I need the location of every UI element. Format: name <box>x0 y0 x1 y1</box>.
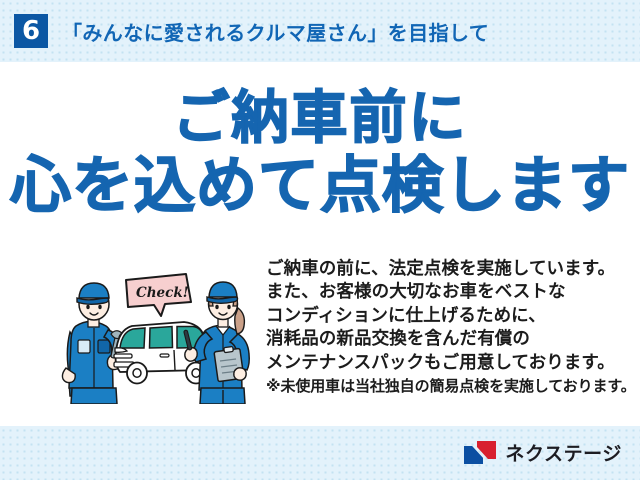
body-line-1: ご納車の前に、法定点検を実施しています。 <box>266 258 626 281</box>
header-band: 6 「みんなに愛されるクルマ屋さん」を目指して <box>0 0 640 62</box>
body-line-5: メンテナンスパックもご用意しております。 <box>266 352 626 375</box>
content-panel: ご納車前に 心を込めて点検します <box>0 62 640 426</box>
brand-logo: ネクステージ <box>463 439 622 466</box>
body-line-2: また、お客様の大切なお車をベストな <box>266 281 626 304</box>
step-number-badge: 6 <box>14 14 48 48</box>
check-bubble-text: Check! <box>136 285 189 301</box>
mechanics-illustration: Check! <box>58 264 258 404</box>
nextage-n-mark-icon <box>463 440 497 465</box>
headline-line-1: ご納車前に <box>0 84 640 152</box>
headline-line-2: 心を込めて点検します <box>0 152 640 220</box>
body-note: ※未使用車は当社独自の簡易点検を実施しております。 <box>266 375 626 397</box>
footer-band: ネクステージ <box>0 426 640 480</box>
mechanic-male-figure <box>62 283 122 404</box>
check-speech-bubble: Check! <box>126 274 191 316</box>
body-line-4: 消耗品の新品交換を含んだ有償の <box>266 328 626 351</box>
page-title: ご納車前に 心を込めて点検します <box>0 84 640 220</box>
mechanics-illustration-svg: Check! <box>58 264 258 404</box>
brand-name: ネクステージ <box>505 439 622 466</box>
header-title: 「みんなに愛されるクルマ屋さん」を目指して <box>62 17 489 46</box>
body-copy: ご納車の前に、法定点検を実施しています。 また、お客様の大切なお車をベストな コ… <box>266 258 626 397</box>
advertisement-canvas: 6 「みんなに愛されるクルマ屋さん」を目指して ご納車前に 心を込めて点検します <box>0 0 640 480</box>
body-line-3: コンディションに仕上げるために、 <box>266 305 626 328</box>
